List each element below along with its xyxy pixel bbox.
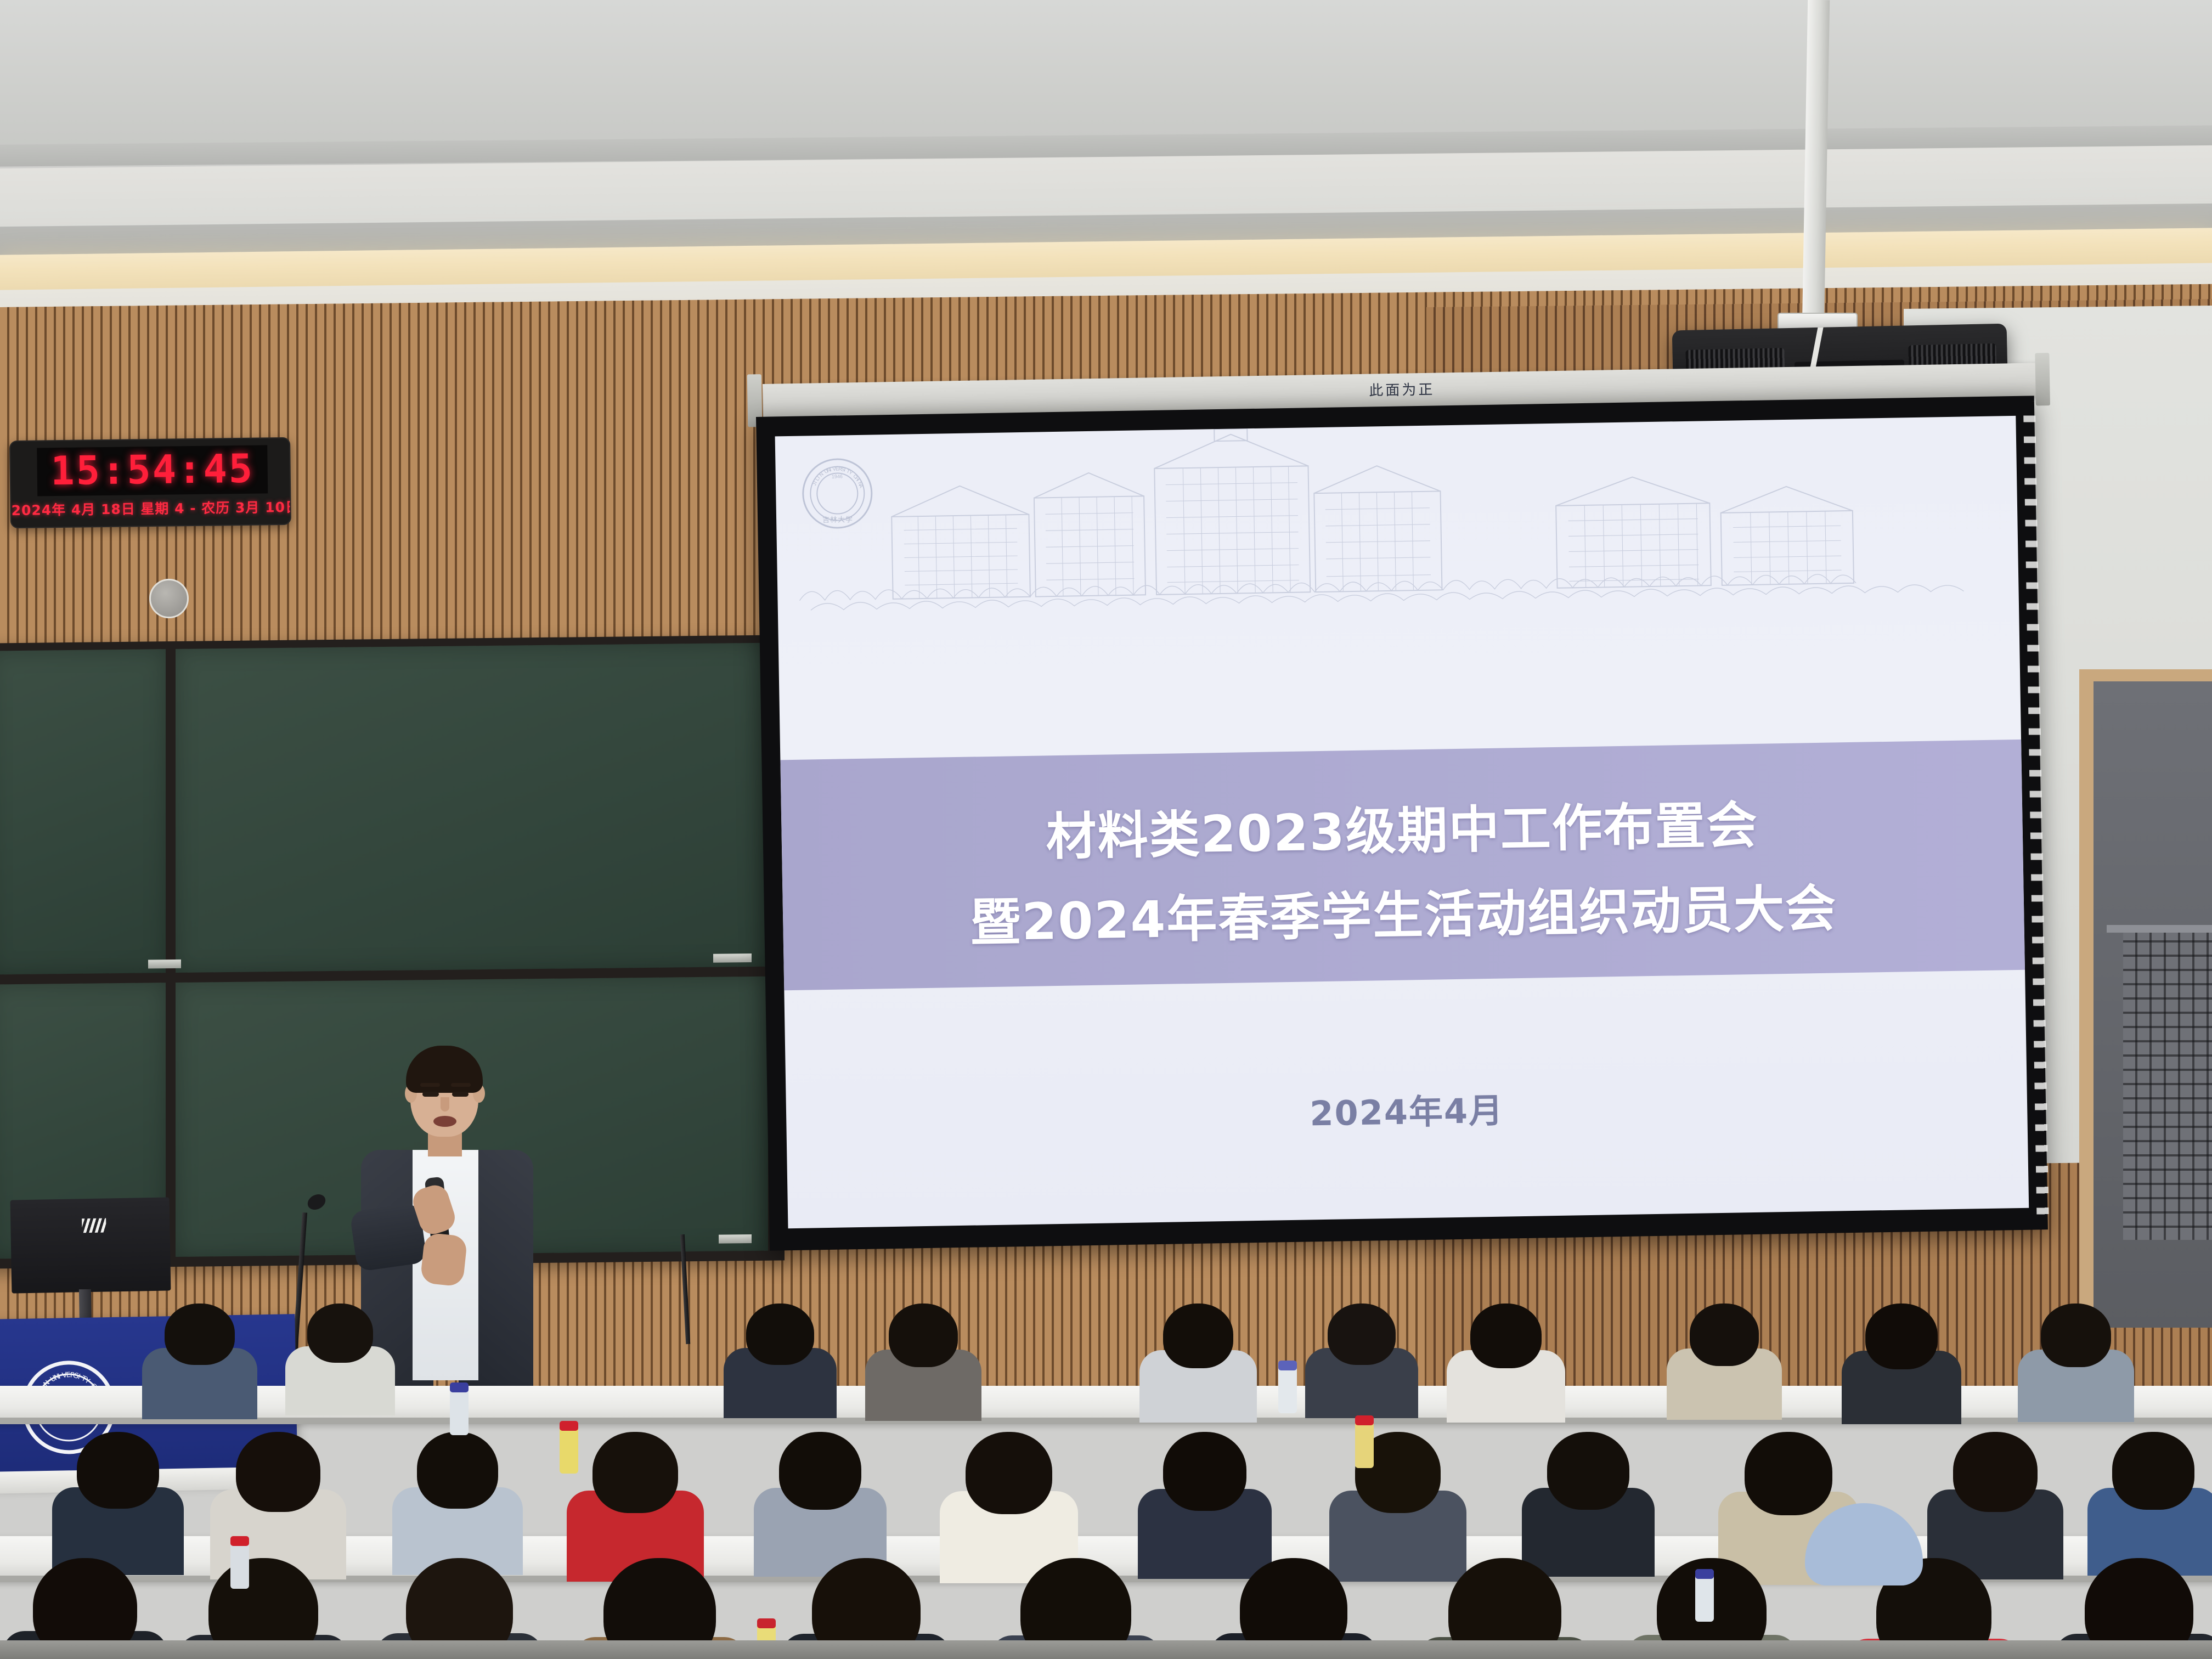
presenter-eye (422, 1092, 439, 1097)
presenter-eyebrow (420, 1083, 440, 1087)
bottle-cap (757, 1618, 776, 1628)
audience-member-head (165, 1304, 235, 1365)
blackboard-panel (0, 649, 166, 974)
slide-title-band: 材料类2023级期中工作布置会 暨2024年春季学生活动组织动员大会 (780, 740, 2025, 990)
presenter-nose (441, 1097, 449, 1111)
audience-member-head (1470, 1304, 1542, 1368)
door-rail (2107, 925, 2212, 933)
presenter-eye (452, 1092, 469, 1097)
water-bottle (1278, 1361, 1297, 1413)
clock-time: 15:54:45 (37, 443, 268, 496)
bottle-cap (1278, 1361, 1297, 1370)
audience-member-head (1690, 1304, 1759, 1366)
audience-member-head (1328, 1304, 1396, 1365)
campus-skyline-watermark (775, 416, 2019, 617)
presenter-mouth (433, 1116, 456, 1127)
audience-member-head (889, 1304, 958, 1367)
door-grille (2123, 933, 2212, 1240)
floor-strip (0, 1640, 2212, 1659)
audience-member-head (966, 1432, 1052, 1514)
water-bottle (230, 1536, 249, 1589)
audience-member-head (2041, 1304, 2111, 1367)
logo-year: 1946 (802, 473, 872, 480)
water-bottle (450, 1383, 469, 1435)
slide-title-line-1: 材料类2023级期中工作布置会 (781, 780, 2023, 873)
audience-area (0, 1251, 2212, 1659)
presentation-slide: JILIN UNIVERSITY CHINA 1946 吉林大学 材料类2023… (775, 416, 2029, 1228)
slide-date: 2024年4月 (786, 1074, 2027, 1144)
chalk-tray (148, 960, 181, 969)
monitor-brand-icon (82, 1218, 106, 1233)
slide-title-line-2: 暨2024年春季学生活动组织动员大会 (782, 865, 2024, 958)
audience-member-head (1953, 1432, 2038, 1512)
bottle-cap (450, 1383, 469, 1392)
lecture-hall-scene: 15:54:45 2024年 4月 18日 星期 4 - 农历 3月 10日 (0, 0, 2212, 1659)
audience-member-head (1865, 1304, 1938, 1369)
chalk-tray (719, 1234, 752, 1244)
audience-member-head (2112, 1432, 2194, 1510)
audience-member-head (746, 1304, 814, 1365)
audience-member-head (417, 1432, 498, 1509)
audience-member-head (1163, 1432, 1246, 1511)
digital-wall-clock: 15:54:45 2024年 4月 18日 星期 4 - 农历 3月 10日 (9, 437, 291, 528)
water-bottle (1695, 1569, 1714, 1622)
university-logo: JILIN UNIVERSITY CHINA 1946 吉林大学 (802, 458, 873, 529)
blackboard-panel (176, 643, 768, 973)
wall-speaker-icon (149, 579, 189, 618)
presenter-hair (406, 1046, 483, 1093)
bottle-cap (1355, 1415, 1374, 1425)
chalk-tray (713, 953, 752, 963)
audience-member-head (77, 1432, 159, 1509)
bottle-cap (1695, 1569, 1714, 1579)
audience-member-head (236, 1432, 320, 1512)
bottle-cap (230, 1536, 249, 1546)
audience-member-head (1163, 1304, 1233, 1368)
audience-member-head (1547, 1432, 1629, 1510)
clock-date: 2024年 4月 18日 星期 4 - 农历 3月 10日 (11, 495, 291, 525)
water-bottle (1355, 1415, 1374, 1468)
audience-member-head (1745, 1432, 1832, 1515)
presenter-eyebrow (451, 1083, 471, 1087)
projection-screen: JILIN UNIVERSITY CHINA 1946 吉林大学 材料类2023… (756, 396, 2048, 1250)
bottle-cap (560, 1421, 578, 1431)
audience-member-head (307, 1304, 373, 1363)
audience-member-head (592, 1432, 678, 1513)
logo-chinese-text: 吉林大学 (803, 513, 873, 524)
audience-member-head (779, 1432, 861, 1510)
water-bottle (560, 1421, 578, 1474)
